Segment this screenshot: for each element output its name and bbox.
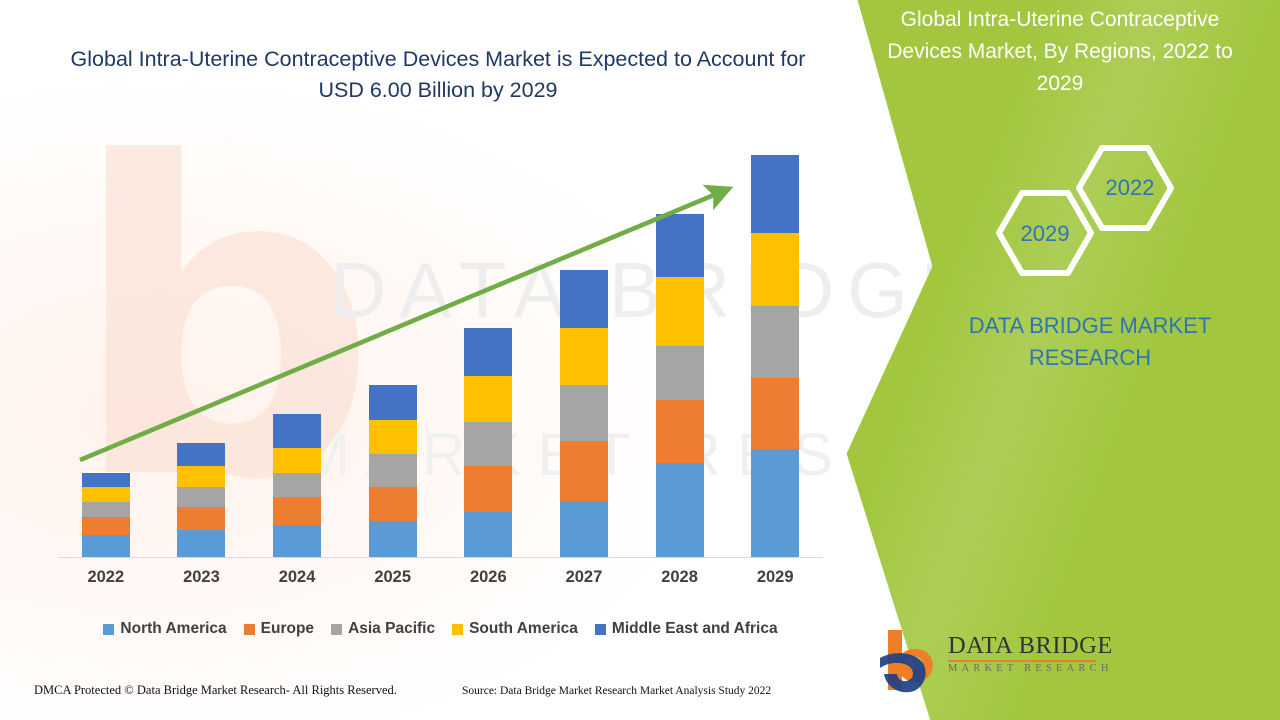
logo-divider [948, 660, 1096, 662]
hexagon-badges: 2022 2029 [990, 145, 1180, 280]
chart-plot-area [58, 150, 823, 558]
x-axis-label: 2028 [640, 568, 720, 587]
x-axis-label: 2027 [544, 568, 624, 587]
bar-segment[interactable] [751, 306, 799, 379]
x-axis-label: 2029 [735, 568, 815, 587]
x-axis-label: 2023 [161, 568, 241, 587]
logo-wordmark: DATA BRIDGE [948, 632, 1113, 660]
hexagon-outline-icons [990, 145, 1180, 280]
hexagon-near-label: 2029 [1013, 221, 1077, 247]
x-axis-label: 2022 [66, 568, 146, 587]
bar-segment[interactable] [560, 441, 608, 501]
bar-group[interactable] [751, 155, 799, 557]
bar-segment[interactable] [464, 328, 512, 377]
legend-label: North America [120, 620, 226, 638]
bar-segment[interactable] [177, 507, 225, 530]
bar-group[interactable] [464, 328, 512, 557]
bar-segment[interactable] [560, 270, 608, 327]
bar-segment[interactable] [369, 487, 417, 522]
bar-segment[interactable] [369, 521, 417, 557]
footer-source: Source: Data Bridge Market Research Mark… [462, 685, 771, 697]
bar-segment[interactable] [656, 400, 704, 463]
bar-segment[interactable] [82, 487, 130, 502]
bar-segment[interactable] [177, 466, 225, 487]
bar-segment[interactable] [273, 414, 321, 448]
x-axis-label: 2024 [257, 568, 337, 587]
bar-segment[interactable] [82, 502, 130, 517]
x-axis-labels: 20222023202420252026202720282029 [58, 568, 823, 594]
bar-segment[interactable] [751, 378, 799, 448]
bar-segment[interactable] [560, 328, 608, 385]
chart-legend: North AmericaEuropeAsia PacificSouth Ame… [58, 617, 823, 641]
bar-segment[interactable] [177, 530, 225, 557]
bar-group[interactable] [656, 214, 704, 557]
bar-segment[interactable] [82, 535, 130, 557]
bar-segment[interactable] [369, 420, 417, 455]
legend-label: South America [469, 620, 578, 638]
bar-group[interactable] [369, 385, 417, 557]
bar-segment[interactable] [751, 233, 799, 306]
legend-item[interactable]: Middle East and Africa [595, 620, 778, 638]
bar-segment[interactable] [369, 385, 417, 420]
bar-segment[interactable] [464, 512, 512, 557]
bar-group[interactable] [273, 414, 321, 557]
legend-swatch [331, 624, 342, 635]
bar-segment[interactable] [656, 346, 704, 400]
bar-segment[interactable] [273, 525, 321, 557]
legend-item[interactable]: Asia Pacific [331, 620, 435, 638]
panel-title: Global Intra-Uterine Contraceptive Devic… [840, 4, 1280, 100]
footer-copyright: DMCA Protected © Data Bridge Market Rese… [34, 683, 397, 698]
legend-item[interactable]: Europe [244, 620, 314, 638]
bar-segment[interactable] [177, 487, 225, 508]
bar-group[interactable] [82, 473, 130, 557]
bar-group[interactable] [177, 443, 225, 557]
bar-segment[interactable] [369, 454, 417, 486]
legend-swatch [103, 624, 114, 635]
legend-swatch [595, 624, 606, 635]
bar-segment[interactable] [82, 517, 130, 535]
bar-segment[interactable] [82, 473, 130, 487]
bar-segment[interactable] [273, 497, 321, 524]
bar-segment[interactable] [751, 155, 799, 233]
legend-label: Asia Pacific [348, 620, 435, 638]
logo-bridge-mark-icon [878, 628, 950, 694]
bar-segment[interactable] [273, 473, 321, 498]
legend-swatch [244, 624, 255, 635]
bar-segment[interactable] [464, 376, 512, 421]
bar-segment[interactable] [464, 466, 512, 511]
chart-title: Global Intra-Uterine Contraceptive Devic… [58, 44, 818, 106]
bar-segment[interactable] [560, 385, 608, 441]
x-axis-label: 2026 [448, 568, 528, 587]
hexagon-far-label: 2022 [1098, 175, 1162, 201]
legend-label: Europe [261, 620, 314, 638]
bar-segment[interactable] [560, 501, 608, 557]
brand-logo[interactable]: DATA BRIDGE MARKET RESEARCH [878, 628, 1118, 694]
legend-swatch [452, 624, 463, 635]
bar-segment[interactable] [273, 448, 321, 473]
bar-segment[interactable] [656, 463, 704, 557]
x-axis-label: 2025 [353, 568, 433, 587]
legend-item[interactable]: South America [452, 620, 578, 638]
legend-label: Middle East and Africa [612, 620, 778, 638]
panel-brand-text: DATA BRIDGE MARKET RESEARCH [940, 310, 1240, 374]
slide-canvas: b DATA BRIDGE MARKET RESEARCH Global Int… [0, 0, 1280, 720]
legend-item[interactable]: North America [103, 620, 226, 638]
bar-segment[interactable] [751, 449, 799, 557]
logo-subtitle: MARKET RESEARCH [948, 663, 1113, 674]
bar-segment[interactable] [656, 277, 704, 346]
bar-segment[interactable] [656, 214, 704, 277]
bar-group[interactable] [560, 270, 608, 557]
bar-segment[interactable] [464, 422, 512, 466]
bar-segment[interactable] [177, 443, 225, 466]
x-axis-line [58, 557, 823, 558]
